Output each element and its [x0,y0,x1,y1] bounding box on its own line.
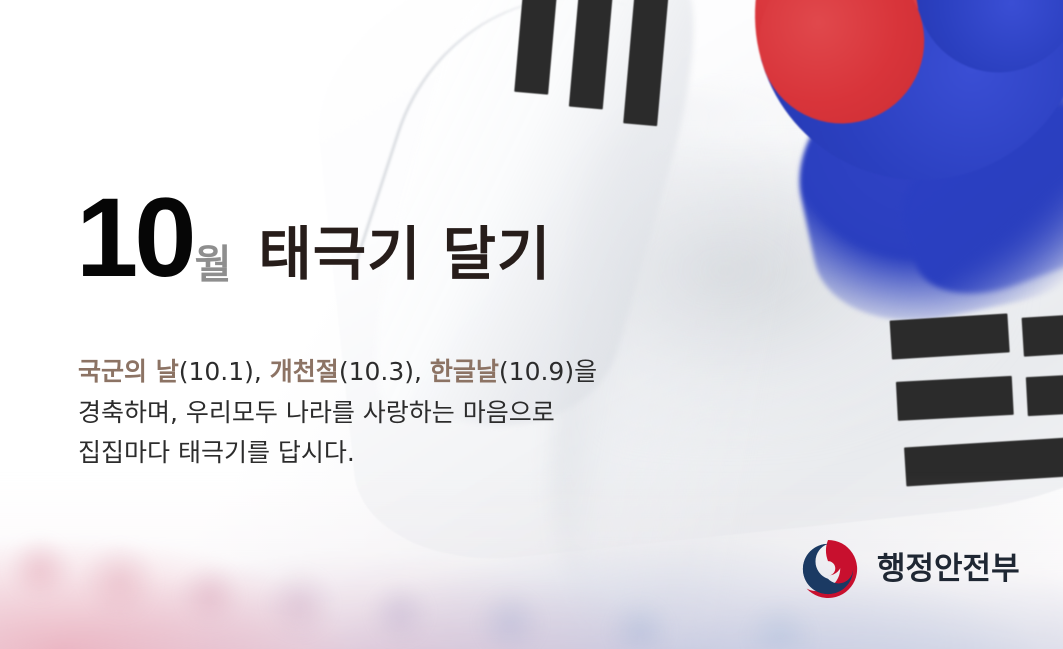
banner-body-copy: 국군의 날(10.1), 개천절(10.3), 한글날(10.9)을 경축하며,… [78,352,597,474]
body-line-1: 국군의 날(10.1), 개천절(10.3), 한글날(10.9)을 [78,352,597,393]
page-title: 10 월 태극기 달기 [76,186,551,289]
holiday-date-national-foundation-day: (10.3) [339,357,414,386]
body-separator-2: , [414,357,430,386]
holiday-name-hangeul-day: 한글날 [430,357,499,386]
korea-government-taegeuk-emblem-icon [795,536,861,602]
holiday-date-hangeul-day: (10.9) [499,357,574,386]
body-line-1-suffix: 을 [574,357,597,386]
holiday-name-national-foundation-day: 개천절 [270,357,339,386]
ministry-logo: 행정안전부 [795,536,1020,602]
banner-content: 10 월 태극기 달기 국군의 날(10.1), 개천절(10.3), 한글날(… [0,0,1063,649]
body-separator-1: , [254,357,270,386]
body-line-3: 집집마다 태극기를 답시다. [78,433,597,474]
holiday-date-armed-forces-day: (10.1) [179,357,254,386]
headline-month-unit: 월 [195,245,231,285]
holiday-name-armed-forces-day: 국군의 날 [78,357,179,386]
taegeukgi-campaign-banner: 10 월 태극기 달기 국군의 날(10.1), 개천절(10.3), 한글날(… [0,0,1063,649]
ministry-name-label: 행정안전부 [877,554,1020,585]
headline-main-text: 태극기 달기 [258,225,551,283]
body-line-2: 경축하며, 우리모두 나라를 사랑하는 마음으로 [78,393,597,434]
headline-month-number: 10 [76,186,193,289]
